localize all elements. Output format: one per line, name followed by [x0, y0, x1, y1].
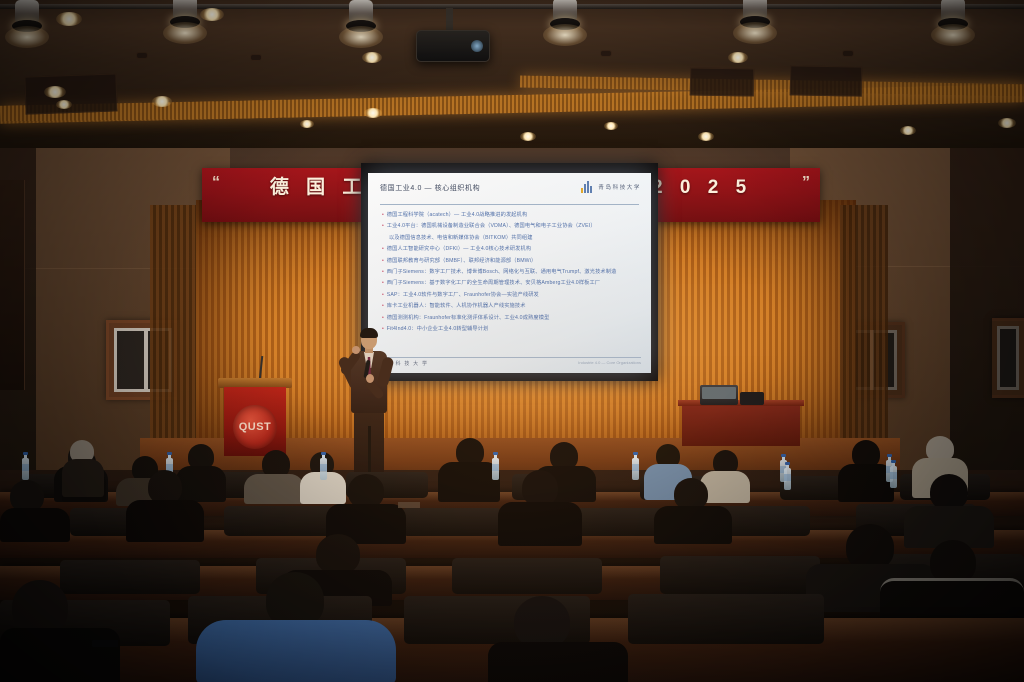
audience-member-foreground — [0, 580, 120, 682]
audience-member-blue-jacket — [196, 572, 396, 682]
slide-bullet: •西门子Siemens：数字工厂技术、博世博Bosch、网络化与互联、通用电气T… — [382, 268, 637, 276]
projection-screen: 德国工业4.0 — 核心组织机构 青岛科技大学 •德国工程科学院（acatech… — [368, 173, 651, 373]
bullet-marker-icon: • — [382, 302, 384, 310]
side-door-left[interactable] — [0, 180, 25, 390]
bullet-text: 库卡工业机器人：智能软件、人机协作机器人产线实施技术 — [387, 302, 526, 310]
slide-bullet: •德国联邦教育与研究部（BMBF）、联邦经济和能源部（BMWi） — [382, 257, 637, 265]
ceiling-vent-right-1 — [690, 67, 754, 96]
audience-body — [438, 462, 500, 502]
audience-body — [196, 620, 396, 682]
university-logo-text: 青岛科技大学 — [598, 183, 641, 191]
control-laptop-icon — [700, 385, 738, 405]
university-seal-text: QUST — [233, 405, 277, 449]
stage-spotlight — [344, 0, 378, 44]
recessed-downlight — [300, 120, 314, 128]
audience-body — [488, 642, 628, 682]
bullet-marker-icon: • — [382, 268, 384, 276]
ceiling-vent-left — [24, 73, 117, 114]
recessed-downlight — [362, 52, 382, 63]
chair — [660, 556, 820, 594]
recessed-downlight — [604, 122, 618, 130]
bullet-marker-icon: • — [382, 291, 384, 299]
slide-bullet-list: •德国工程科学院（acatech）— 工业4.0战略推进的发起机构 •工业4.0… — [378, 211, 641, 333]
audience-member — [498, 470, 582, 542]
lectern: QUST — [224, 378, 286, 456]
stage-spotlight — [10, 0, 44, 44]
university-logo-icon — [581, 181, 595, 193]
chair — [628, 594, 824, 644]
av-equipment-box — [740, 392, 764, 405]
bullet-text: 德国测测机构：Fraunhofer标准化测评体系设计、工业4.0成熟度模型 — [387, 314, 550, 322]
slide-footer-right: Industrie 4.0 — Core Organizations — [578, 360, 641, 367]
lighting-truss — [0, 4, 1024, 9]
university-logo: 青岛科技大学 — [581, 181, 641, 193]
slide-bullet: •SAP：工业4.0软件与数字工厂、Fraunhofer协会—实验产线研发 — [382, 291, 637, 299]
ceiling-vent-right-2 — [790, 65, 863, 96]
bullet-text: 德国工程科学院（acatech）— 工业4.0战略推进的发起机构 — [387, 211, 528, 219]
slide-bullet-continuation: 以及德国信息技术、电信和新媒体协会（BITKOM）共同组建 — [382, 234, 637, 242]
lecture-hall-photo: “ 德 国 工 业 4.0 与 中 国 制 造 2 0 2 5 智 能 制 造 … — [0, 0, 1024, 682]
slide-footer: 中 国 科 技 大 学 Industrie 4.0 — Core Organiz… — [378, 357, 641, 367]
speaker-presenter — [340, 330, 396, 490]
bullet-marker-icon: • — [382, 279, 384, 287]
recessed-downlight — [56, 12, 82, 26]
audience-body — [654, 506, 732, 544]
smartphone-on-desk[interactable] — [92, 640, 118, 647]
slide-bullet: •德国工程科学院（acatech）— 工业4.0战略推进的发起机构 — [382, 211, 637, 219]
stage-spotlight — [738, 0, 772, 40]
bullet-marker-icon: • — [382, 314, 384, 322]
slide-header: 德国工业4.0 — 核心组织机构 青岛科技大学 — [378, 181, 641, 203]
slide-bullet: •库卡工业机器人：智能软件、人机协作机器人产线实施技术 — [382, 302, 637, 310]
recessed-downlight — [56, 100, 72, 109]
university-seal-icon: QUST — [233, 405, 277, 449]
stage-spotlight — [548, 0, 582, 42]
bullet-marker-icon: • — [382, 222, 384, 230]
smoke-detector — [600, 50, 612, 57]
recessed-downlight — [44, 86, 66, 98]
window-mullion — [144, 328, 148, 392]
ceiling — [0, 0, 1024, 150]
slide-bullet: •德国测测机构：Fraunhofer标准化测评体系设计、工业4.0成熟度模型 — [382, 314, 637, 322]
stage-spotlight — [936, 0, 970, 42]
audience-head — [930, 474, 968, 510]
bullet-text: 西门子Siemens：基于数字化工厂的全生命周期管理技术、安贝格Amberg工业… — [387, 279, 600, 287]
bullet-text: Fit4Ind4.0：中小企业工业4.0转型辅导计划 — [387, 325, 489, 333]
recessed-downlight — [998, 118, 1016, 128]
recessed-downlight — [520, 132, 536, 141]
bullet-marker-icon: • — [382, 211, 384, 219]
bullet-text: 德国联邦教育与研究部（BMBF）、联邦经济和能源部（BMWi） — [387, 257, 537, 265]
slide-bullet: •Fit4Ind4.0：中小企业工业4.0转型辅导计划 — [382, 325, 637, 333]
chair — [402, 508, 502, 536]
audience-member-white-stripe — [880, 540, 1024, 630]
smoke-detector — [136, 52, 148, 59]
speaker-right-hand — [366, 374, 374, 383]
speaker-left-hand — [352, 346, 360, 354]
slide-bullet: •西门子Siemens：基于数字化工厂的全生命周期管理技术、安贝格Amberg工… — [382, 279, 637, 287]
audience-head — [522, 470, 558, 506]
stage-spotlight — [168, 0, 202, 40]
bullet-text: 以及德国信息技术、电信和新媒体协会（BITKOM）共同组建 — [389, 234, 533, 242]
smoke-detector — [250, 54, 262, 61]
audience-member-foreground — [488, 596, 628, 682]
audience-head — [12, 580, 68, 634]
presentation-slide: 德国工业4.0 — 核心组织机构 青岛科技大学 •德国工程科学院（acatech… — [368, 173, 651, 373]
audience-member — [0, 480, 70, 540]
bullet-text: 德国人工智能研究中心（DFKI）— 工业4.0核心技术研发机构 — [387, 245, 531, 253]
audience-body — [0, 628, 120, 682]
slide-footer-rule — [378, 357, 641, 358]
notebook-on-desk — [398, 502, 420, 508]
recessed-downlight — [364, 108, 382, 118]
speaker-hair — [360, 328, 378, 338]
backdrop-slats-left — [150, 205, 200, 440]
slide-title-rule — [380, 204, 639, 205]
audience-head — [316, 534, 360, 574]
slide-bullet: •工业4.0平台：德国机械设备制造业联合会（VDMA）、德国电气和电子工业协会（… — [382, 222, 637, 230]
av-table — [682, 404, 800, 446]
audience-head — [514, 596, 570, 648]
audience-member — [654, 478, 732, 540]
bullet-text: SAP：工业4.0软件与数字工厂、Fraunhofer协会—实验产线研发 — [387, 291, 539, 299]
audience-head — [148, 470, 182, 504]
audience-member — [126, 470, 204, 540]
laptop-screen — [702, 387, 736, 399]
slide-bullet: •德国人工智能研究中心（DFKI）— 工业4.0核心技术研发机构 — [382, 245, 637, 253]
bullet-text: 西门子Siemens：数字工厂技术、博世博Bosch、网络化与互联、通用电气Tr… — [387, 268, 617, 276]
recessed-downlight — [698, 132, 714, 141]
audience-body — [126, 500, 204, 542]
audience-head — [348, 474, 384, 508]
window-right-2 — [992, 318, 1024, 398]
speaker-leg-gap — [368, 426, 371, 476]
bullet-marker-icon: • — [382, 257, 384, 265]
smoke-detector — [842, 50, 854, 57]
bullet-marker-icon: • — [382, 245, 384, 253]
chair — [224, 506, 334, 536]
lectern-body: QUST — [224, 387, 286, 456]
backdrop-slats-right — [840, 205, 888, 440]
recessed-downlight — [200, 8, 224, 21]
ceiling-projector-icon — [416, 30, 490, 62]
audience-body — [498, 502, 582, 546]
projector-lens-icon — [471, 40, 483, 52]
window-sash — [997, 326, 1019, 390]
audience-member — [244, 450, 304, 502]
bullet-text: 工业4.0平台：德国机械设备制造业联合会（VDMA）、德国电气和电子工业协会（Z… — [387, 222, 596, 230]
audience-body — [0, 508, 70, 542]
recessed-downlight — [900, 126, 916, 135]
banner-quote-close: ” — [802, 174, 810, 192]
audience-body — [244, 474, 304, 504]
audience-member — [438, 438, 500, 500]
recessed-downlight — [152, 96, 172, 107]
audience-member — [326, 474, 406, 540]
chair — [452, 558, 602, 594]
recessed-downlight — [728, 52, 748, 63]
slide-title: 德国工业4.0 — 核心组织机构 — [380, 183, 480, 193]
